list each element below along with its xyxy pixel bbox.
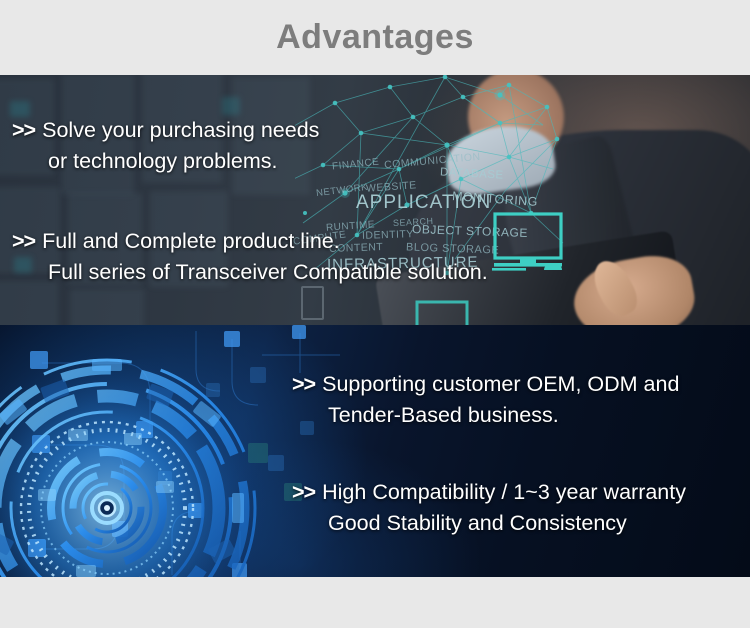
advantages-panel-one: FINANCE COMMUNICATION DATABASE NETWORK W… [0, 75, 750, 325]
bullet-line-2: Good Stability and Consistency [292, 508, 686, 539]
page-title: Advantages [276, 18, 474, 57]
panel-two-bullet-2: >>High Compatibility / 1~3 year warranty… [292, 477, 686, 539]
bullet-marker: >> [292, 372, 315, 396]
phone-shape [301, 286, 324, 320]
bullet-marker: >> [292, 480, 315, 504]
panel-one-bullet-1: >>Solve your purchasing needs or technol… [12, 115, 319, 177]
circular-hud-icon [0, 343, 272, 577]
advantages-panel-two: >>Supporting customer OEM, ODM and Tende… [0, 325, 750, 577]
panel-one-bullet-2: >>Full and Complete product line. Full s… [12, 226, 488, 288]
bullet-line-2: Full series of Transceiver Compatible so… [12, 257, 488, 288]
bullet-line-1: High Compatibility / 1~3 year warranty [322, 480, 686, 504]
panel-two-bullet-1: >>Supporting customer OEM, ODM and Tende… [292, 369, 679, 431]
bullet-line-2: or technology problems. [12, 146, 319, 177]
page-header: Advantages [0, 0, 750, 75]
bullet-line-2: Tender-Based business. [292, 400, 679, 431]
bullet-line-1: Full and Complete product line. [42, 229, 340, 253]
bullet-line-1: Supporting customer OEM, ODM and [322, 372, 679, 396]
bullet-marker: >> [12, 229, 35, 253]
page-footer [0, 577, 750, 628]
bullet-marker: >> [12, 118, 35, 142]
bullet-line-1: Solve your purchasing needs [42, 118, 319, 142]
